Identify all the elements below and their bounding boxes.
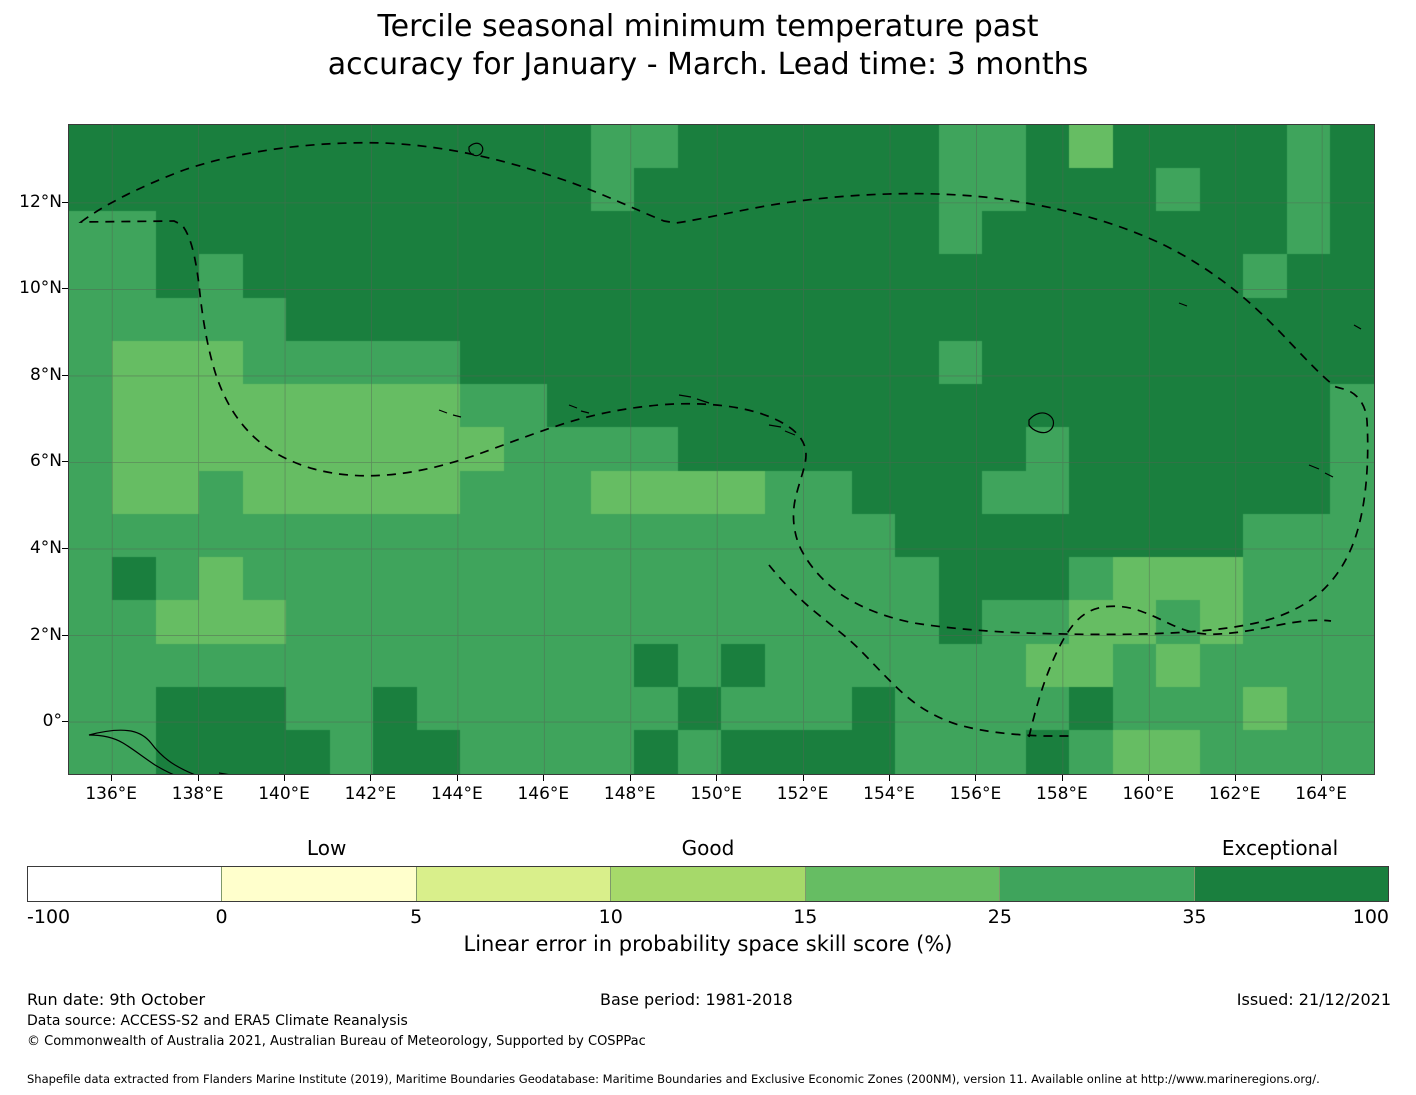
y-axis-tick-mark <box>62 375 68 376</box>
colorbar-swatches[interactable] <box>27 866 1389 902</box>
eez-boundary-secondary <box>769 565 1331 737</box>
coastline-outlines <box>89 143 1361 774</box>
data-source-text: Data source: ACCESS-S2 and ERA5 Climate … <box>27 1013 408 1029</box>
colorbar-segment-6[interactable] <box>1195 867 1388 901</box>
x-axis-tick-label: 162°E <box>1190 784 1280 804</box>
colorbar-legend[interactable]: LowGoodExceptional -1000510152535100 Lin… <box>27 866 1389 902</box>
x-axis-tick-mark <box>284 775 285 781</box>
colorbar-category-label: Low <box>307 836 346 860</box>
x-axis-tick-label: 152°E <box>758 784 848 804</box>
y-axis-tick-label: 12°N <box>0 192 62 212</box>
issued-date-text: Issued: 21/12/2021 <box>1237 990 1391 1009</box>
colorbar-tick-label: 0 <box>216 906 228 928</box>
eez-boundary-line <box>81 143 1368 635</box>
x-axis-tick-label: 156°E <box>930 784 1020 804</box>
x-axis-tick-label: 136°E <box>66 784 156 804</box>
colorbar-tick-label: 100 <box>1353 906 1389 928</box>
shapefile-note-text: Shapefile data extracted from Flanders M… <box>27 1072 1320 1086</box>
colorbar-segment-0[interactable] <box>28 867 222 901</box>
colorbar-segment-2[interactable] <box>417 867 611 901</box>
y-axis-tick-label: 0° <box>0 711 62 731</box>
y-axis-tick-mark <box>62 288 68 289</box>
x-axis-tick-label: 158°E <box>1017 784 1107 804</box>
base-period-text: Base period: 1981-2018 <box>600 990 793 1009</box>
colorbar-category-label: Exceptional <box>1222 836 1338 860</box>
colorbar-axis-title: Linear error in probability space skill … <box>27 932 1389 956</box>
colorbar-segment-4[interactable] <box>806 867 1000 901</box>
x-axis-tick-label: 144°E <box>412 784 502 804</box>
x-axis-tick-mark <box>457 775 458 781</box>
colorbar-tick-label: 5 <box>410 906 422 928</box>
x-axis-tick-label: 148°E <box>585 784 675 804</box>
colorbar-segment-5[interactable] <box>1000 867 1194 901</box>
title-line-2: accuracy for January - March. Lead time:… <box>0 46 1416 84</box>
x-axis-tick-mark <box>543 775 544 781</box>
copyright-text: © Commonwealth of Australia 2021, Austra… <box>27 1034 646 1049</box>
x-axis-tick-mark <box>803 775 804 781</box>
x-axis-tick-mark <box>111 775 112 781</box>
colorbar-tick-label: 25 <box>988 906 1012 928</box>
map-plot-area[interactable] <box>68 124 1375 775</box>
x-axis-tick-label: 146°E <box>498 784 588 804</box>
x-axis-tick-label: 140°E <box>239 784 329 804</box>
colorbar-tick-label: -100 <box>27 906 70 928</box>
colorbar-tick-label: 35 <box>1182 906 1206 928</box>
y-axis-tick-mark <box>62 548 68 549</box>
page-title: Tercile seasonal minimum temperature pas… <box>0 8 1416 84</box>
x-axis-tick-mark <box>198 775 199 781</box>
x-axis-tick-label: 160°E <box>1103 784 1193 804</box>
x-axis-tick-mark <box>1235 775 1236 781</box>
y-axis-tick-label: 4°N <box>0 538 62 558</box>
x-axis-tick-mark <box>370 775 371 781</box>
y-axis-tick-mark <box>62 202 68 203</box>
y-axis-tick-label: 10°N <box>0 278 62 298</box>
colorbar-category-label: Good <box>682 836 735 860</box>
x-axis-tick-mark <box>1321 775 1322 781</box>
map-vector-overlay <box>69 125 1374 774</box>
x-axis-tick-label: 142°E <box>325 784 415 804</box>
y-axis-tick-mark <box>62 461 68 462</box>
y-axis-tick-label: 8°N <box>0 365 62 385</box>
colorbar-segment-1[interactable] <box>222 867 416 901</box>
y-axis-tick-mark <box>62 635 68 636</box>
x-axis-tick-mark <box>716 775 717 781</box>
y-axis-tick-mark <box>62 721 68 722</box>
x-axis-tick-label: 164°E <box>1276 784 1366 804</box>
x-axis-tick-label: 150°E <box>671 784 761 804</box>
title-line-1: Tercile seasonal minimum temperature pas… <box>0 8 1416 46</box>
x-axis-tick-mark <box>630 775 631 781</box>
x-axis-tick-label: 154°E <box>844 784 934 804</box>
x-axis-tick-mark <box>1148 775 1149 781</box>
x-axis-tick-mark <box>975 775 976 781</box>
graticule-gridlines <box>69 125 1374 774</box>
colorbar-segment-3[interactable] <box>611 867 805 901</box>
y-axis-tick-label: 2°N <box>0 625 62 645</box>
y-axis-tick-label: 6°N <box>0 451 62 471</box>
colorbar-tick-label: 10 <box>599 906 623 928</box>
x-axis-tick-label: 138°E <box>153 784 243 804</box>
run-date-text: Run date: 9th October <box>27 990 205 1009</box>
x-axis-tick-mark <box>889 775 890 781</box>
colorbar-tick-label: 15 <box>793 906 817 928</box>
x-axis-tick-mark <box>1062 775 1063 781</box>
